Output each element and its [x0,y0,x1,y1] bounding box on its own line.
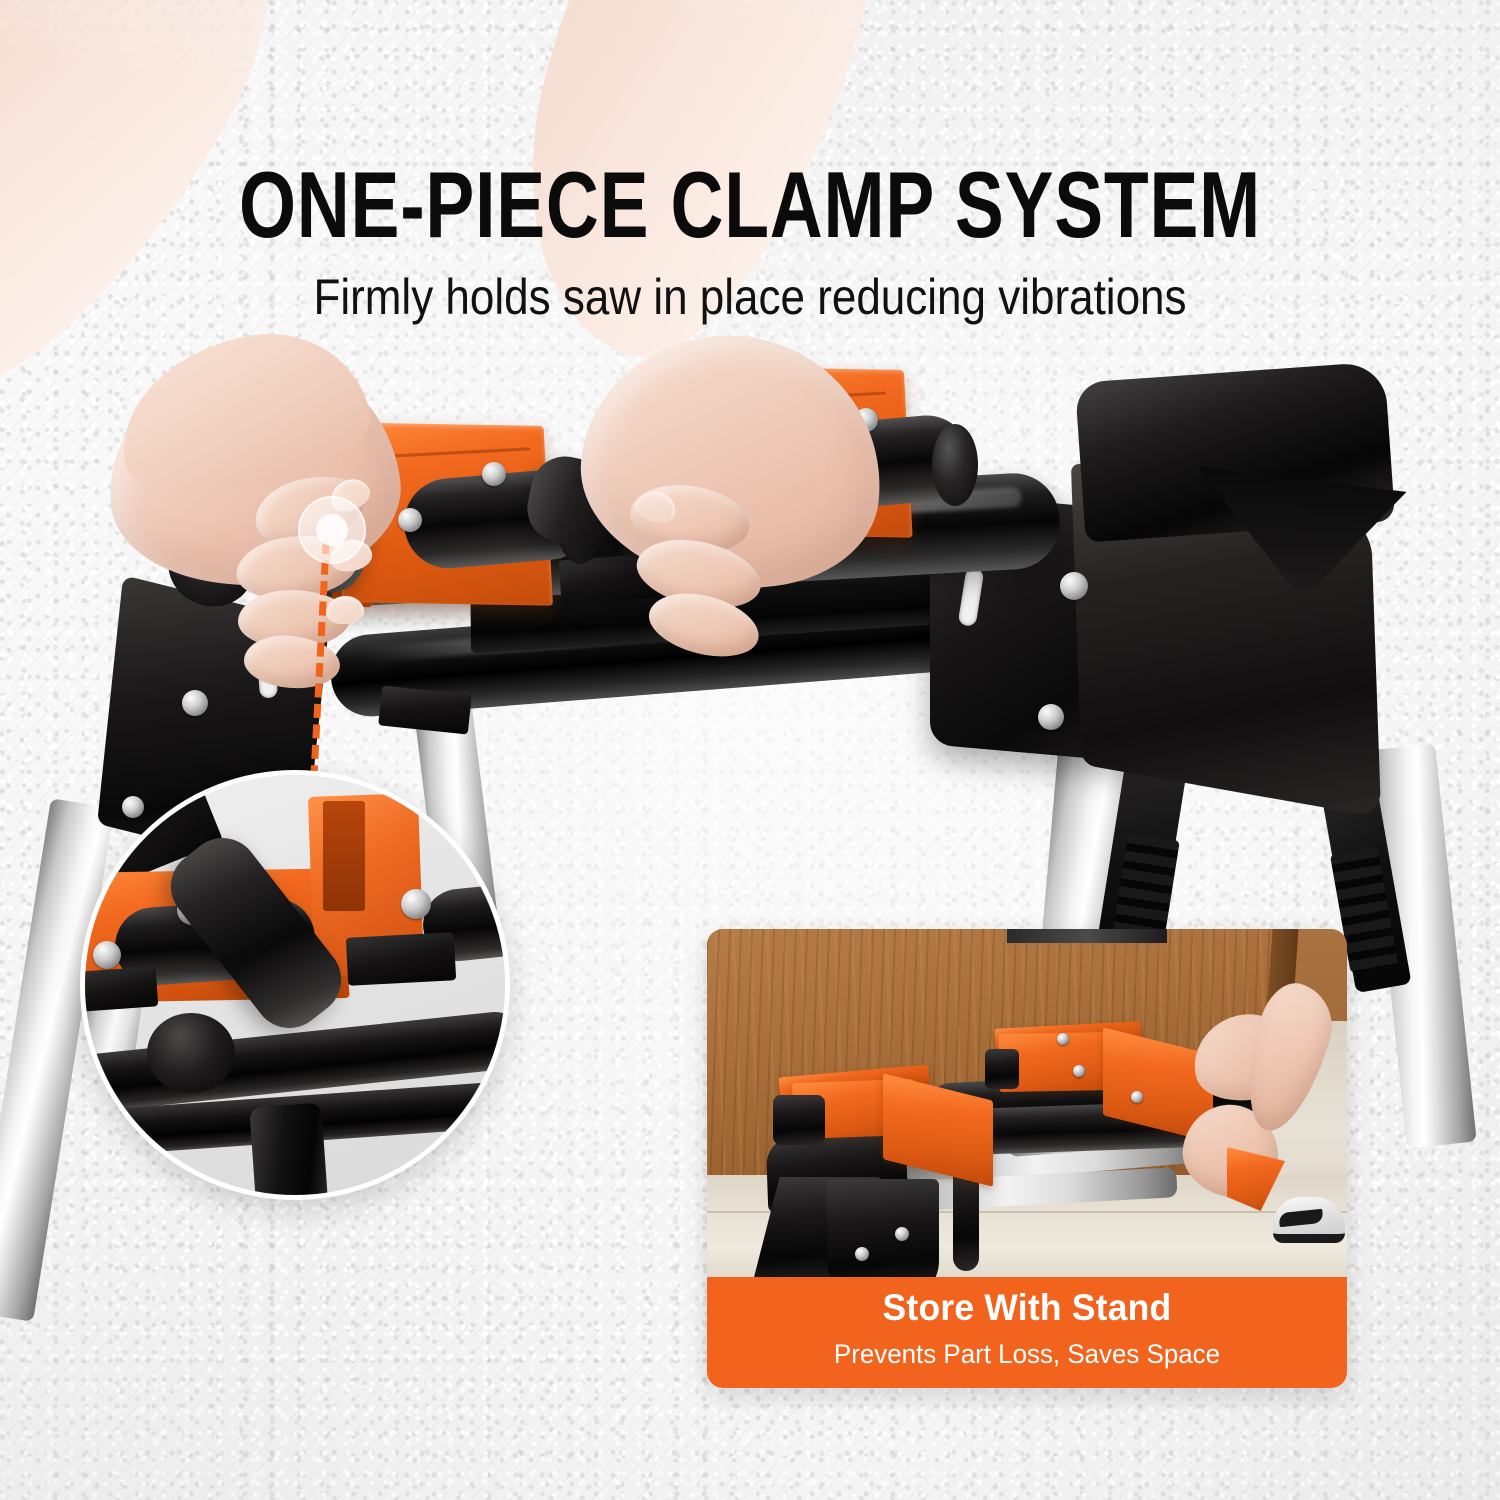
folded-rivet-1 [855,1247,869,1261]
clamp-bolt-left-bottom [398,508,422,532]
clamp-lever-highlight-dot [298,496,366,564]
magnifier-fitting-left [80,966,158,1011]
magnifier-bolt-left [93,941,121,969]
folded-clamp-lever-left [773,1095,825,1145]
magnifier-clamp-upright-inner [323,801,365,911]
magnifier-vertical-tube [249,1103,328,1200]
card-caption-subtitle: Prevents Part Loss, Saves Space [720,1341,1334,1368]
magnifier-detail-circle [80,770,510,1200]
card-caption-title: Store With Stand [720,1289,1334,1326]
folded-clamp-bolt-2 [1073,1065,1085,1077]
card-caption-bar: Store With Stand Prevents Part Loss, Sav… [707,1277,1347,1388]
roller-cap-right [932,424,978,506]
magnifier-bolt-right [401,889,431,919]
page-title: ONE-PIECE CLAMP SYSTEM [165,158,1335,252]
folded-rivet-2 [895,1227,909,1241]
folded-clamp-lever-right [985,1049,1019,1089]
folded-hinge-plate [827,1179,939,1277]
rivet-right-bracket-upper [1060,572,1088,600]
folded-clamp-bolt-3 [1131,1091,1143,1103]
page-subtitle: Firmly holds saw in place reducing vibra… [90,272,1410,322]
magnifier-content [85,775,505,1195]
clamp-bolt-left-top [482,462,506,486]
magnifier-fitting-right [346,932,456,986]
folded-clamp-bolt-1 [1057,1033,1069,1045]
rivet-left-bracket [182,690,208,716]
deck-fitting-lower [378,685,472,734]
store-with-stand-card[interactable]: Store With Stand Prevents Part Loss, Sav… [707,929,1347,1388]
magnifier-clamp-lever-tip [147,1013,235,1093]
product-feature-poster: ONE-PIECE CLAMP SYSTEM Firmly holds saw … [0,0,1500,1500]
rivet-right-bracket-lower [1038,704,1064,730]
dark-gap-strip [1007,929,1167,943]
folded-stand-photo [707,929,1347,1277]
